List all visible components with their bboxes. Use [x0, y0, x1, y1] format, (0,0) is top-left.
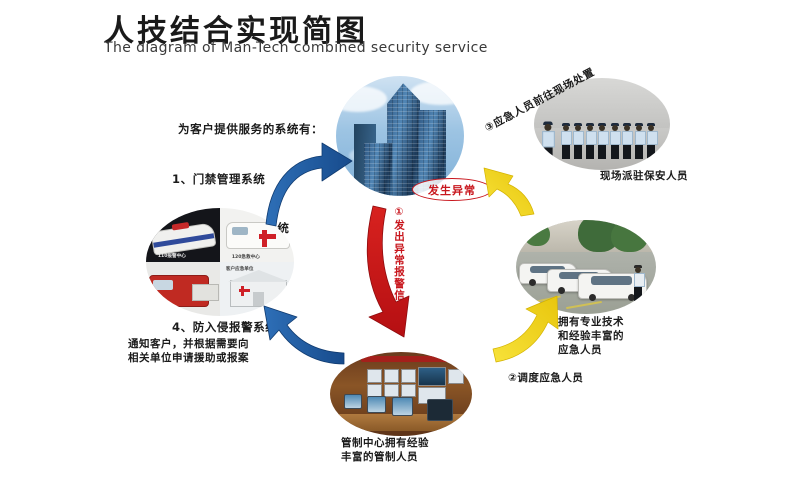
control-center-caption: 管制中心拥有经验 丰富的管制人员 — [341, 436, 429, 464]
shrub — [524, 222, 549, 246]
police-car-quadrant: 110报警中心 — [146, 208, 220, 262]
systems-list-item: 1、门禁管理系统 — [172, 171, 323, 188]
guard-figure — [598, 123, 607, 159]
police-center-caption: 110报警中心 — [158, 253, 186, 259]
patrol-cars-photo — [516, 220, 656, 314]
notify-client-caption: 通知客户，并根据需要向 相关单位申请援助或报案 — [128, 337, 249, 365]
desk-monitor — [367, 396, 386, 413]
guard-figure — [542, 122, 553, 164]
systems-list-item: 4、防入侵报警系统等 — [172, 319, 323, 336]
guard-figure — [573, 123, 582, 159]
responders-caption: 拥有专业技术 和经验丰富的 应急人员 — [558, 315, 624, 357]
ambulance — [226, 222, 290, 249]
control-center-photo — [330, 352, 472, 436]
wall-monitor — [448, 369, 464, 384]
abnormal-badge: 发生异常 — [412, 178, 492, 201]
wall-monitor — [367, 369, 382, 383]
relief-tent — [230, 280, 287, 307]
wall-monitor — [401, 369, 416, 383]
guard-figure — [586, 123, 595, 159]
guard-figure — [635, 123, 644, 159]
low-tower-shape — [364, 143, 392, 196]
police-car — [150, 223, 216, 256]
emergency-center-caption: 120急救中心 — [232, 254, 260, 260]
guard-figure — [622, 123, 631, 159]
client-unit-caption: 客户应急单位 — [226, 266, 254, 272]
wall-monitor — [401, 384, 416, 397]
diagram-canvas: 人技结合实现简图 The diagram of Man-Tech combine… — [0, 0, 802, 477]
palm-tree — [611, 220, 647, 252]
guard-figure — [561, 123, 570, 159]
emergency-units-photo: 110报警中心 120急救中心 客户应急单位 — [146, 208, 294, 316]
ceiling-light-strip — [361, 356, 463, 362]
step-1-label: ①发出异常报警信号 — [392, 206, 407, 313]
fire-truck-quadrant — [146, 262, 220, 316]
systems-list-heading: 为客户提供服务的系统有： — [178, 121, 323, 138]
ambulance-quadrant: 120急救中心 — [220, 208, 294, 262]
step-2-label: ②调度应急人员 — [508, 370, 583, 385]
guard-figure — [647, 123, 656, 159]
wall-monitor — [384, 384, 399, 397]
officer-figure — [634, 265, 643, 301]
arrow-responders-to-site — [484, 168, 534, 216]
guard-figure — [610, 123, 619, 159]
page-title-en: The diagram of Man-Tech combined securit… — [104, 40, 488, 56]
relief-tent-quadrant: 客户应急单位 — [220, 262, 294, 316]
desk-monitor — [344, 394, 362, 409]
guards-caption: 现场派驻保安人员 — [600, 168, 688, 183]
wall-monitor-large — [418, 367, 446, 386]
wall-monitor — [367, 384, 382, 397]
wall-monitor — [384, 369, 399, 383]
fire-truck — [149, 275, 209, 307]
desk-monitor — [427, 399, 453, 421]
desk-monitor — [392, 397, 412, 416]
